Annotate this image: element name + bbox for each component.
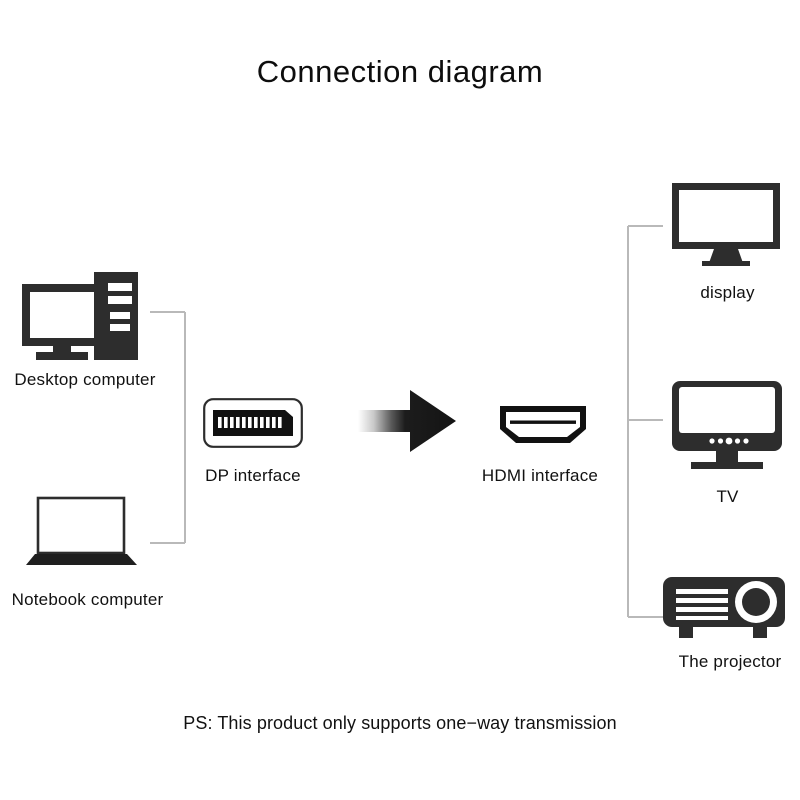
- projector-icon: [663, 577, 785, 641]
- desktop-computer-icon: [22, 272, 142, 362]
- projector-label: The projector: [650, 652, 800, 672]
- displayport-connector-icon: [203, 398, 303, 448]
- monitor-icon: [672, 183, 780, 267]
- desktop-computer-label: Desktop computer: [0, 370, 170, 390]
- display-label: display: [655, 283, 800, 303]
- hdmi-connector-icon: [498, 403, 588, 447]
- footnote-text: PS: This product only supports one−way t…: [0, 713, 800, 734]
- input-bracket: [150, 312, 185, 543]
- laptop-icon: [25, 497, 145, 569]
- hdmi-interface-label: HDMI interface: [460, 466, 620, 486]
- television-icon: [672, 381, 782, 473]
- dp-interface-label: DP interface: [178, 466, 328, 486]
- connection-diagram-canvas: Connection diagram: [0, 0, 800, 800]
- page-title: Connection diagram: [0, 54, 800, 90]
- notebook-computer-label: Notebook computer: [0, 590, 175, 610]
- tv-label: TV: [660, 487, 795, 507]
- right-arrow-icon: [358, 388, 458, 454]
